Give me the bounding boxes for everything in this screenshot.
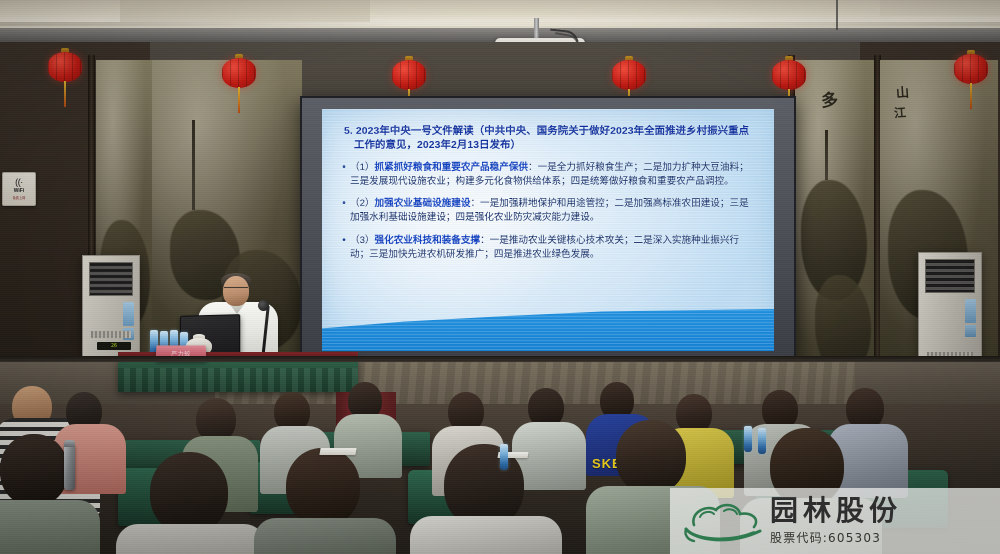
ac-panel-sticker xyxy=(123,302,134,326)
thermos-flask xyxy=(64,444,75,490)
bullet-highlight-3: 强化农业科技和装备支撑 xyxy=(375,235,481,246)
wall-mural-right: 多 xyxy=(795,60,875,390)
water-bottle xyxy=(744,426,752,452)
ceiling-seam xyxy=(0,22,1000,26)
bullet-marker: • xyxy=(338,161,350,189)
wifi-sign: ((· WiFi 免费上网 xyxy=(2,172,36,206)
calligraphy-char-0: 多 xyxy=(820,85,839,111)
conference-room-photo: 多 山 江 ((· WiFi 免费上网 5. 2023年中央一号文 xyxy=(0,0,1000,554)
slide-bullet-1: • （1）抓紧抓好粮食和重要农产品稳产保供：一是全力抓好粮食生产；二是加力扩种大… xyxy=(338,161,758,189)
projector-mount xyxy=(534,18,539,40)
calligraphy-char-1: 山 xyxy=(895,82,909,102)
calligraphy-char-2: 江 xyxy=(893,104,906,122)
presenter-glasses xyxy=(224,287,248,293)
bullet-marker: • xyxy=(338,197,350,225)
bullet-marker: • xyxy=(338,234,350,262)
ceiling-panel-right xyxy=(880,0,1000,16)
bullet-highlight-2: 加强农业基础设施建设 xyxy=(375,198,471,209)
bullet-text-3: （3）强化农业科技和装备支撑：一是推动农业关键核心技术攻关；二是深入实施种业振兴… xyxy=(350,234,758,262)
projection-screen-frame: 5. 2023年中央一号文件解读（中共中央、国务院关于做好2023年全面推进乡村… xyxy=(300,96,796,364)
company-logo-icon xyxy=(680,495,768,547)
air-conditioner-left[interactable]: 26 xyxy=(82,255,140,363)
ac-panel-sticker-2 xyxy=(965,325,976,337)
ac-panel-sticker xyxy=(965,299,976,323)
company-name: 园林股份 xyxy=(770,496,1000,526)
watermark-text-block: 园林股份 股票代码:605303 xyxy=(768,496,1000,546)
ac-display-value: 26 xyxy=(111,343,117,349)
thermos-cap xyxy=(64,440,75,447)
projection-screen: 5. 2023年中央一号文件解读（中共中央、国务院关于做好2023年全面推进乡村… xyxy=(322,109,774,351)
ceiling-wire xyxy=(836,0,838,30)
water-bottle xyxy=(758,428,766,454)
ac-display: 26 xyxy=(97,342,131,350)
head-table-skirt xyxy=(118,368,358,392)
bullet-text-1: （1）抓紧抓好粮食和重要农产品稳产保供：一是全力抓好粮食生产；二是加力扩种大豆油… xyxy=(350,161,758,189)
wifi-sign-label: WiFi xyxy=(14,188,25,194)
ac-grille xyxy=(89,262,133,296)
stage-edge xyxy=(0,356,1000,362)
bullet-highlight-1: 抓紧抓好粮食和重要农产品稳产保供 xyxy=(375,162,529,173)
ac-bottom-vent xyxy=(91,331,131,338)
slide-bullet-2: • （2）加强农业基础设施建设：一是加强耕地保护和用途管控；二是加强高标准农田建… xyxy=(338,197,758,225)
watermark-overlay: 园林股份 股票代码:605303 xyxy=(670,488,1000,554)
bullet-number-3: （3） xyxy=(350,235,375,246)
ac-grille xyxy=(925,259,975,293)
bullet-text-2: （2）加强农业基础设施建设：一是加强耕地保护和用途管控；二是加强高标准农田建设；… xyxy=(350,197,758,225)
bullet-number-1: （1） xyxy=(350,162,375,173)
slide-bullet-3: • （3）强化农业科技和装备支撑：一是推动农业关键核心技术攻关；二是深入实施种业… xyxy=(338,234,758,262)
wifi-sign-sublabel: 免费上网 xyxy=(13,195,26,200)
wifi-icon: ((· xyxy=(15,178,23,187)
bullet-number-2: （2） xyxy=(350,198,375,209)
water-bottle xyxy=(500,444,508,470)
audience-paper xyxy=(319,448,356,455)
stock-code: 股票代码:605303 xyxy=(770,529,1000,546)
ceiling-panel-left xyxy=(120,0,370,22)
slide-title: 5. 2023年中央一号文件解读（中共中央、国务院关于做好2023年全面推进乡村… xyxy=(344,125,756,154)
microphone-head-icon xyxy=(258,300,269,311)
